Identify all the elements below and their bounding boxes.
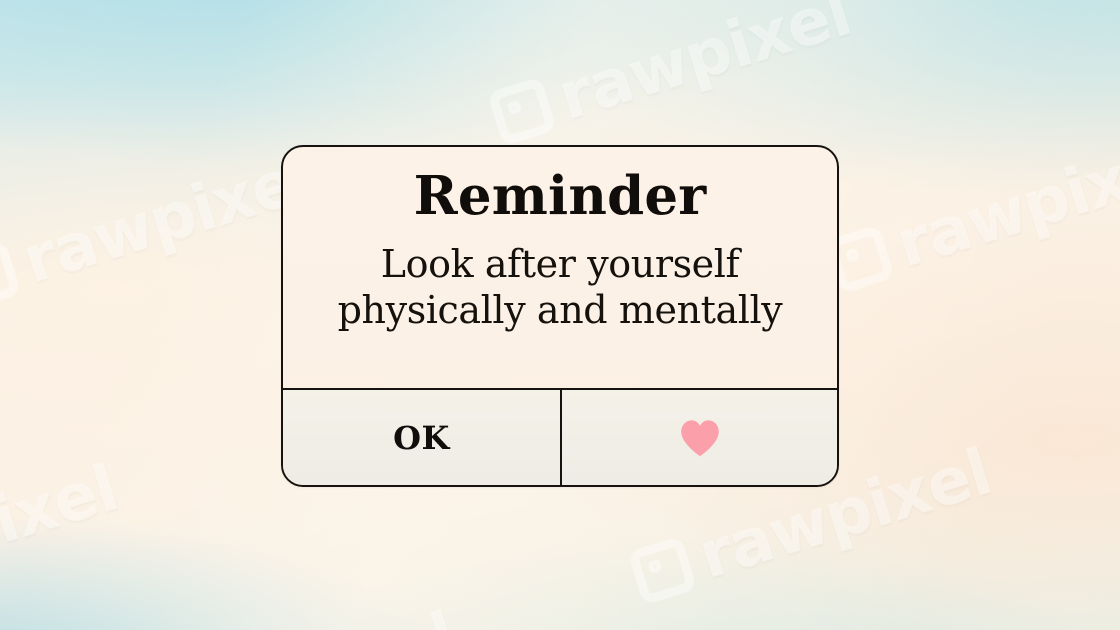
heart-button[interactable] [560, 390, 837, 485]
dialog-action-bar: OK [283, 388, 837, 485]
dialog-message-line-1: Look after yourself [338, 241, 783, 287]
dialog-message: Look after yourself physically and menta… [338, 241, 783, 334]
ok-button-label: OK [393, 419, 450, 457]
reminder-dialog: Reminder Look after yourself physically … [281, 145, 839, 487]
ok-button[interactable]: OK [283, 390, 560, 485]
dialog-title: Reminder [414, 169, 707, 225]
heart-icon [679, 419, 721, 457]
dialog-body: Reminder Look after yourself physically … [283, 147, 837, 388]
dialog-message-line-2: physically and mentally [338, 287, 783, 333]
canvas: rawpixelrawpixelrawpixelrawpixelrawpixel… [0, 0, 1120, 630]
